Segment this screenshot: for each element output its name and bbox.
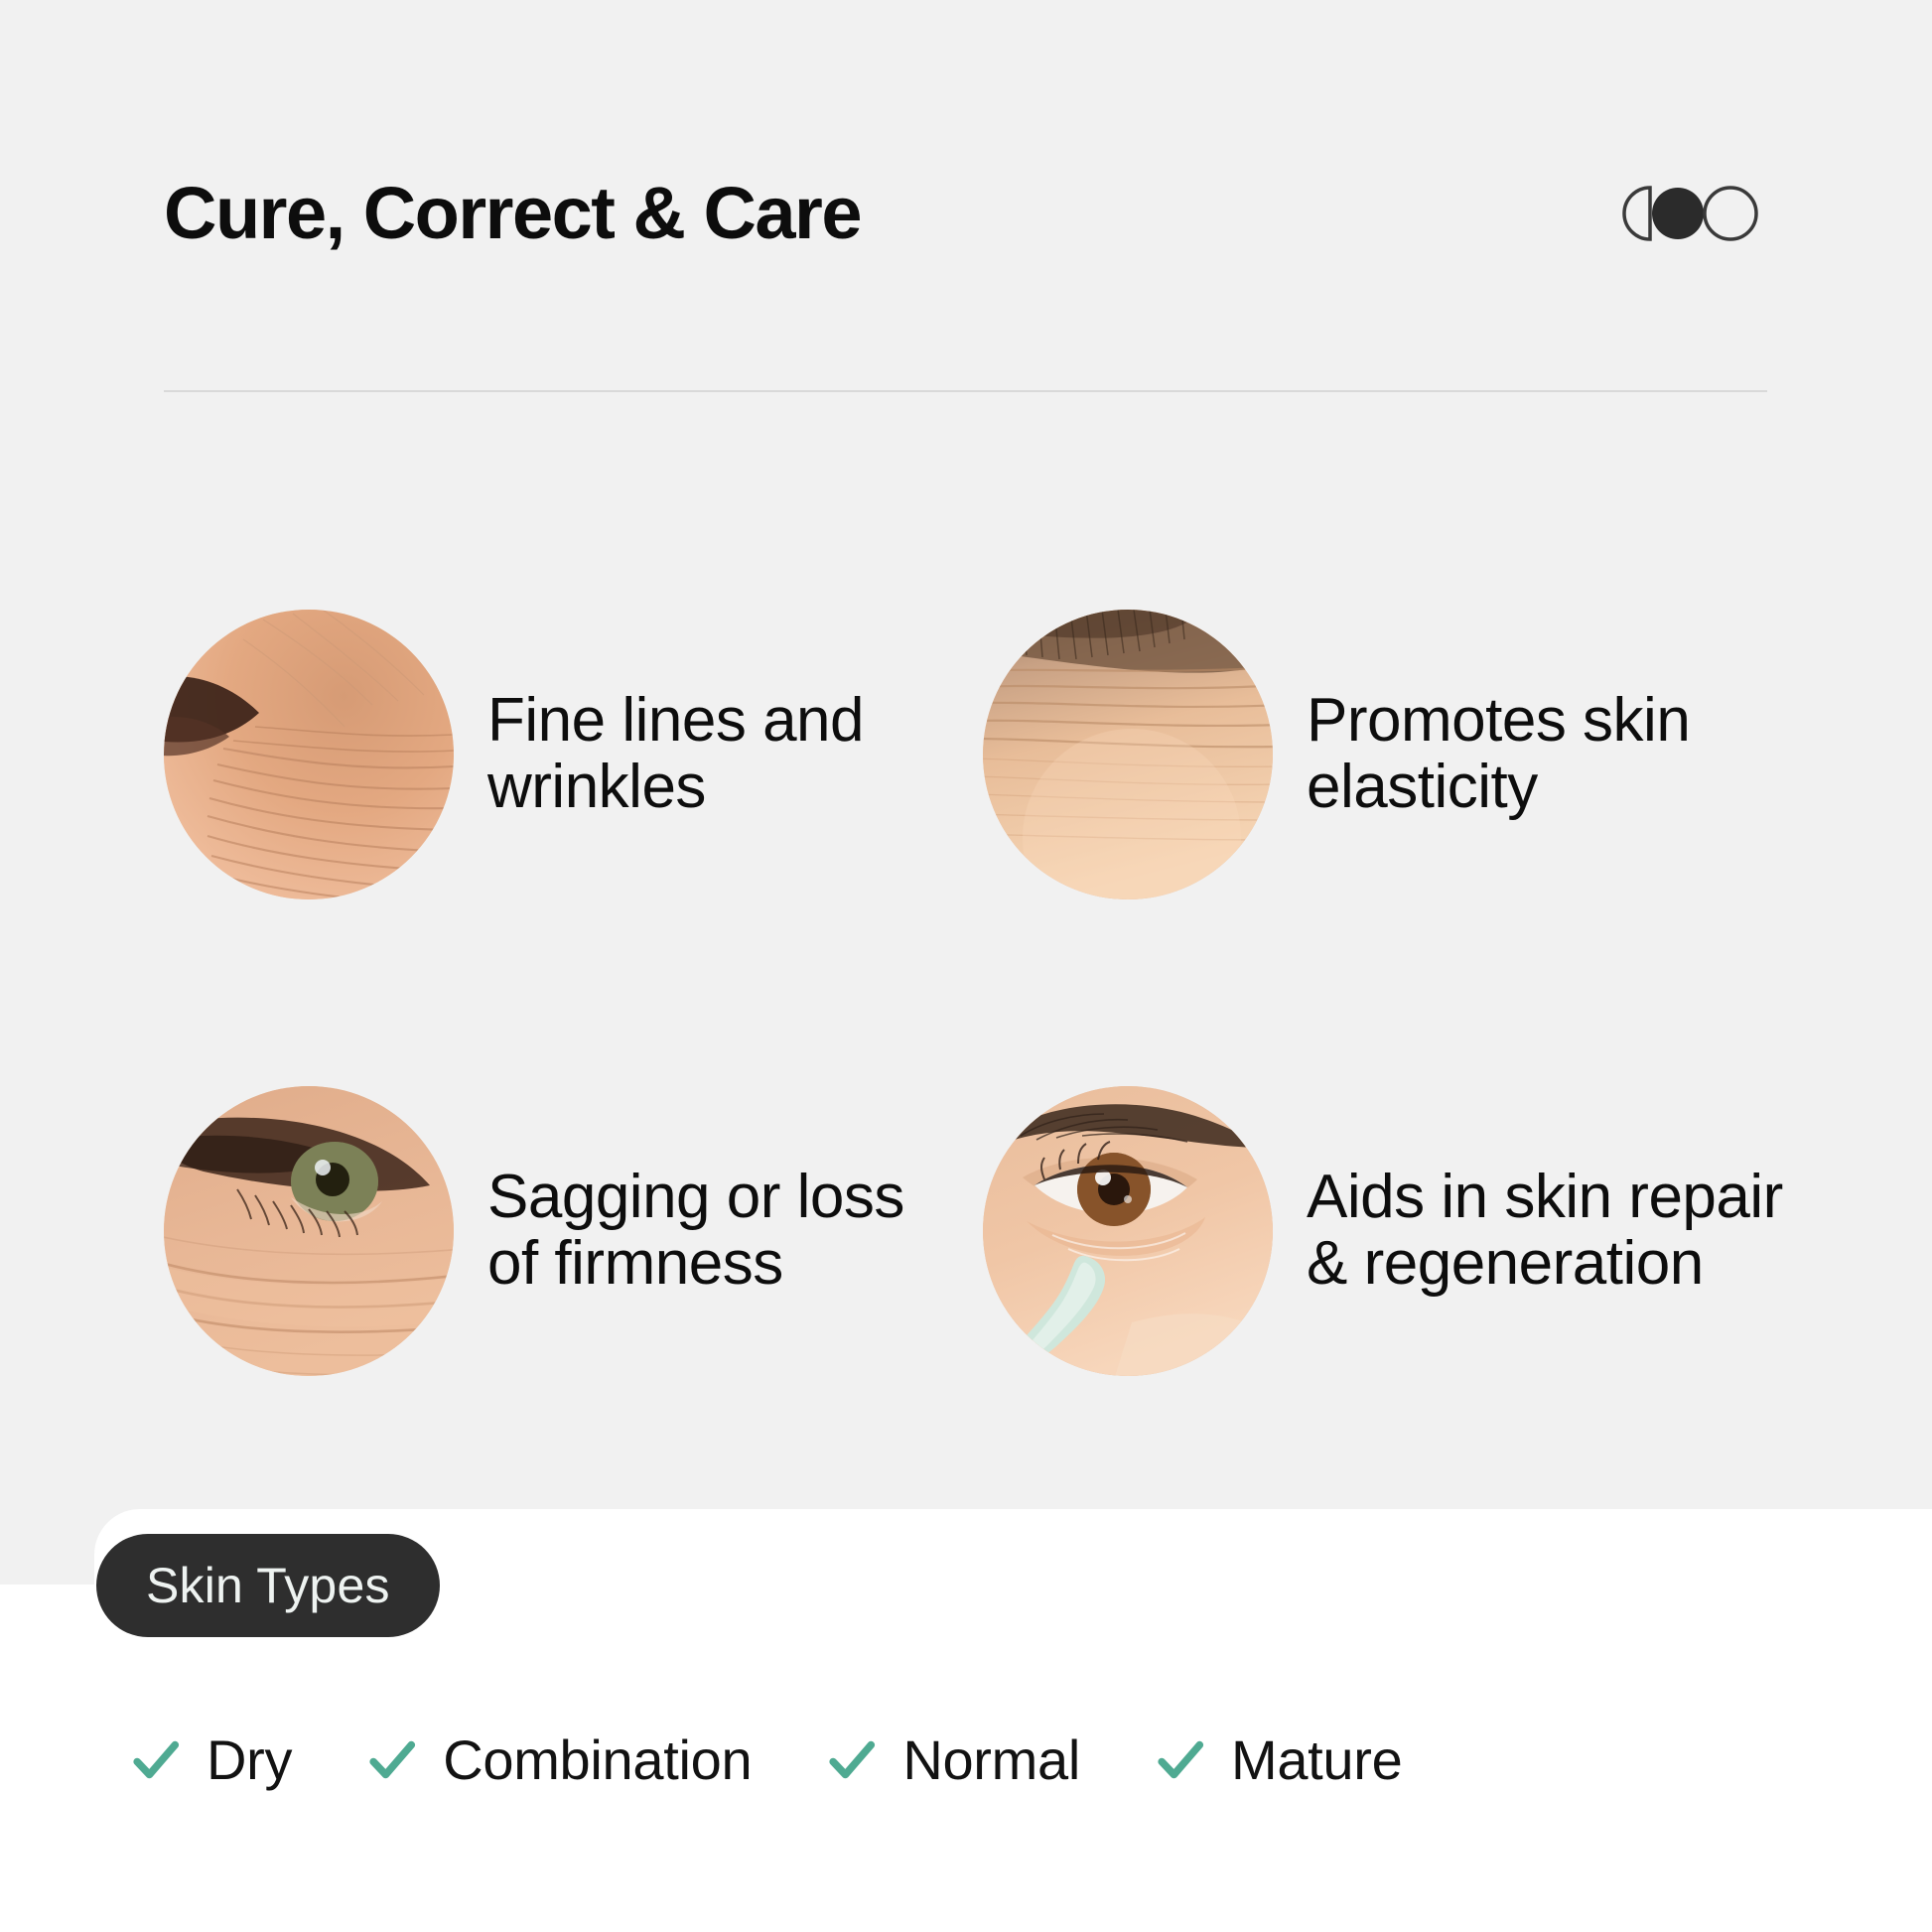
infographic-page: Cure, Correct & Care <box>0 0 1932 1932</box>
skin-type-label-mature: Mature <box>1231 1727 1403 1792</box>
skin-types-badge: Skin Types <box>96 1534 440 1637</box>
benefit-item-sagging: Sagging or loss of firmness <box>164 993 983 1469</box>
benefit-label-elasticity: Promotes skin elasticity <box>1307 688 1783 821</box>
page-title: Cure, Correct & Care <box>164 177 861 250</box>
skin-type-label-dry: Dry <box>207 1727 292 1792</box>
header: Cure, Correct & Care <box>164 149 1767 278</box>
benefit-item-elasticity: Promotes skin elasticity <box>983 516 1802 993</box>
check-icon <box>1152 1731 1209 1789</box>
check-icon <box>823 1731 881 1789</box>
header-divider <box>164 390 1767 392</box>
benefit-item-fine-lines: Fine lines and wrinkles <box>164 516 983 993</box>
skin-type-item-combination: Combination <box>363 1727 752 1792</box>
skin-types-badge-label: Skin Types <box>146 1557 390 1614</box>
benefit-thumbnail-repair <box>983 1086 1273 1376</box>
solid-circle-icon <box>1652 188 1704 239</box>
skin-type-item-mature: Mature <box>1152 1727 1403 1792</box>
skin-type-item-normal: Normal <box>823 1727 1080 1792</box>
skin-types-list: Dry Combination Normal Mature <box>127 1727 1815 1792</box>
skin-type-label-combination: Combination <box>443 1727 752 1792</box>
benefit-label-sagging: Sagging or loss of firmness <box>487 1165 964 1298</box>
half-circle-outline-icon <box>1624 188 1650 239</box>
benefit-thumbnail-elasticity <box>983 610 1273 899</box>
skin-type-item-dry: Dry <box>127 1727 292 1792</box>
benefit-item-repair: Aids in skin repair & regeneration <box>983 993 1802 1469</box>
check-icon <box>127 1731 185 1789</box>
benefits-grid: Fine lines and wrinkles <box>164 516 1802 1469</box>
pill-outline-icon <box>1705 188 1756 239</box>
check-icon <box>363 1731 421 1789</box>
skin-type-label-normal: Normal <box>902 1727 1080 1792</box>
benefit-thumbnail-fine-lines <box>164 610 454 899</box>
benefit-label-repair: Aids in skin repair & regeneration <box>1307 1165 1783 1298</box>
brand-logo <box>1620 183 1759 244</box>
benefit-label-fine-lines: Fine lines and wrinkles <box>487 688 964 821</box>
benefit-thumbnail-sagging <box>164 1086 454 1376</box>
